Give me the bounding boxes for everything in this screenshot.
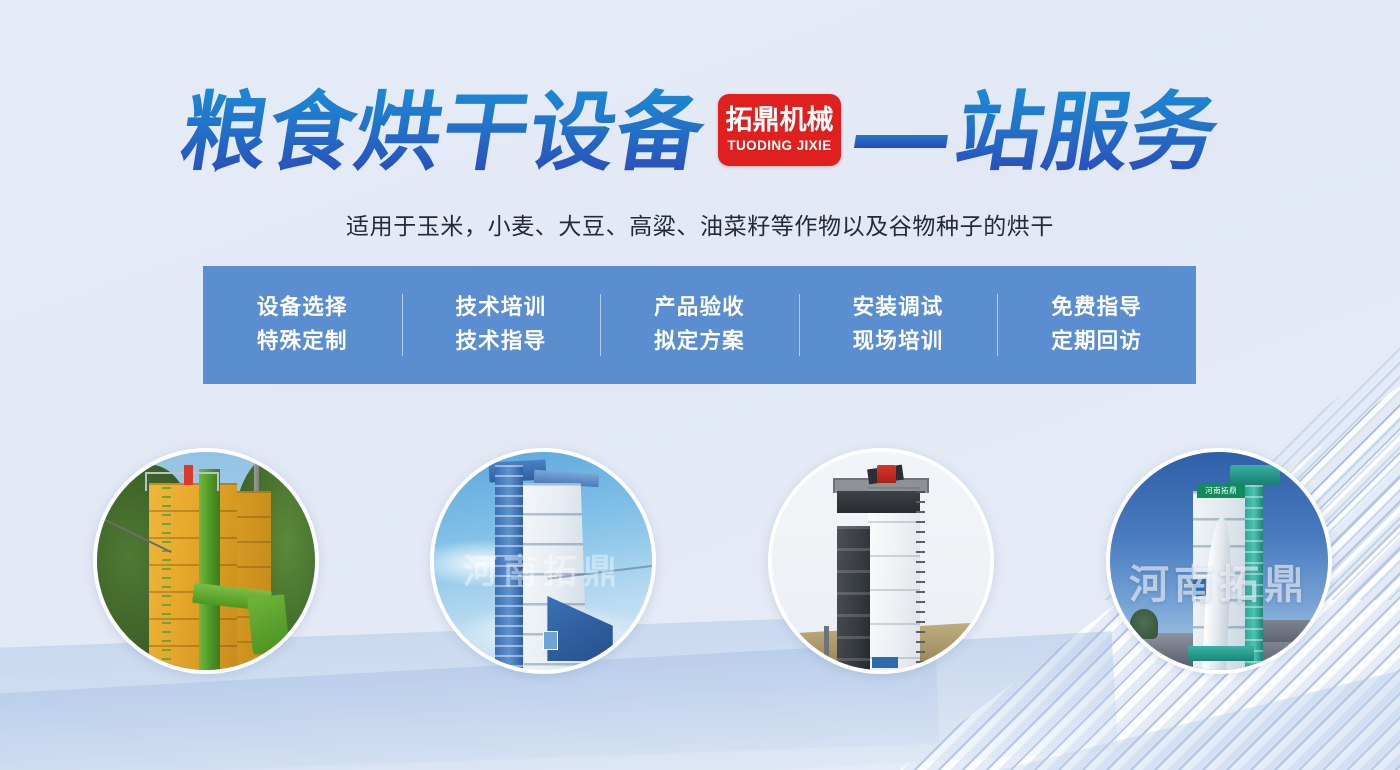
feature-line-primary: 免费指导 bbox=[1051, 295, 1142, 322]
feature-cell-1: 设备选择 特殊定制 bbox=[203, 266, 402, 384]
feature-line-secondary: 特殊定制 bbox=[257, 329, 348, 356]
headline-tail-text: 站服务 bbox=[950, 86, 1226, 180]
feature-cell-3: 产品验收 拟定方案 bbox=[600, 266, 799, 384]
product-photo-row: 河南拓鼎 bbox=[0, 448, 1400, 678]
feature-line-primary: 产品验收 bbox=[654, 295, 745, 322]
logo-pinyin-name: TUODING JIXIE bbox=[727, 138, 831, 153]
promotional-banner: 粮食烘干设备 拓鼎机械 TUODING JIXIE 站服务 适用于玉米，小麦、大… bbox=[0, 0, 1400, 770]
feature-line-secondary: 技术指导 bbox=[455, 329, 546, 356]
company-logo-badge: 拓鼎机械 TUODING JIXIE bbox=[718, 94, 841, 166]
service-feature-bar: 设备选择 特殊定制 技术培训 技术指导 产品验收 拟定方案 安装调试 现场培训 … bbox=[203, 266, 1196, 384]
photo-watermark: 河南拓鼎 bbox=[434, 544, 652, 593]
product-photo-1 bbox=[93, 448, 319, 674]
dryer-name-plate: 河南拓鼎 bbox=[1197, 483, 1245, 498]
feature-line-secondary: 定期回访 bbox=[1051, 329, 1142, 356]
headline: 粮食烘干设备 拓鼎机械 TUODING JIXIE 站服务 bbox=[0, 78, 1400, 188]
feature-cell-4: 安装调试 现场培训 bbox=[799, 266, 998, 384]
feature-cell-5: 免费指导 定期回访 bbox=[997, 266, 1196, 384]
feature-cell-2: 技术培训 技术指导 bbox=[402, 266, 601, 384]
dash-stroke-icon bbox=[854, 135, 948, 148]
logo-chinese-name: 拓鼎机械 bbox=[726, 107, 834, 135]
photo-watermark: 河南拓鼎 bbox=[1110, 552, 1328, 610]
dryer-name-plate-text: 河南拓鼎 bbox=[1205, 485, 1237, 496]
feature-line-primary: 技术培训 bbox=[455, 295, 546, 322]
product-photo-4: 河南拓鼎 河南拓鼎 bbox=[1106, 448, 1332, 674]
product-photo-2: 河南拓鼎 bbox=[430, 448, 656, 674]
product-photo-3 bbox=[768, 448, 994, 674]
headline-main-text: 粮食烘干设备 bbox=[175, 86, 712, 180]
feature-line-primary: 设备选择 bbox=[257, 295, 348, 322]
subtitle-text: 适用于玉米，小麦、大豆、高粱、油菜籽等作物以及谷物种子的烘干 bbox=[0, 207, 1400, 241]
feature-line-secondary: 现场培训 bbox=[853, 329, 944, 356]
feature-line-primary: 安装调试 bbox=[853, 295, 944, 322]
feature-line-secondary: 拟定方案 bbox=[654, 329, 745, 356]
